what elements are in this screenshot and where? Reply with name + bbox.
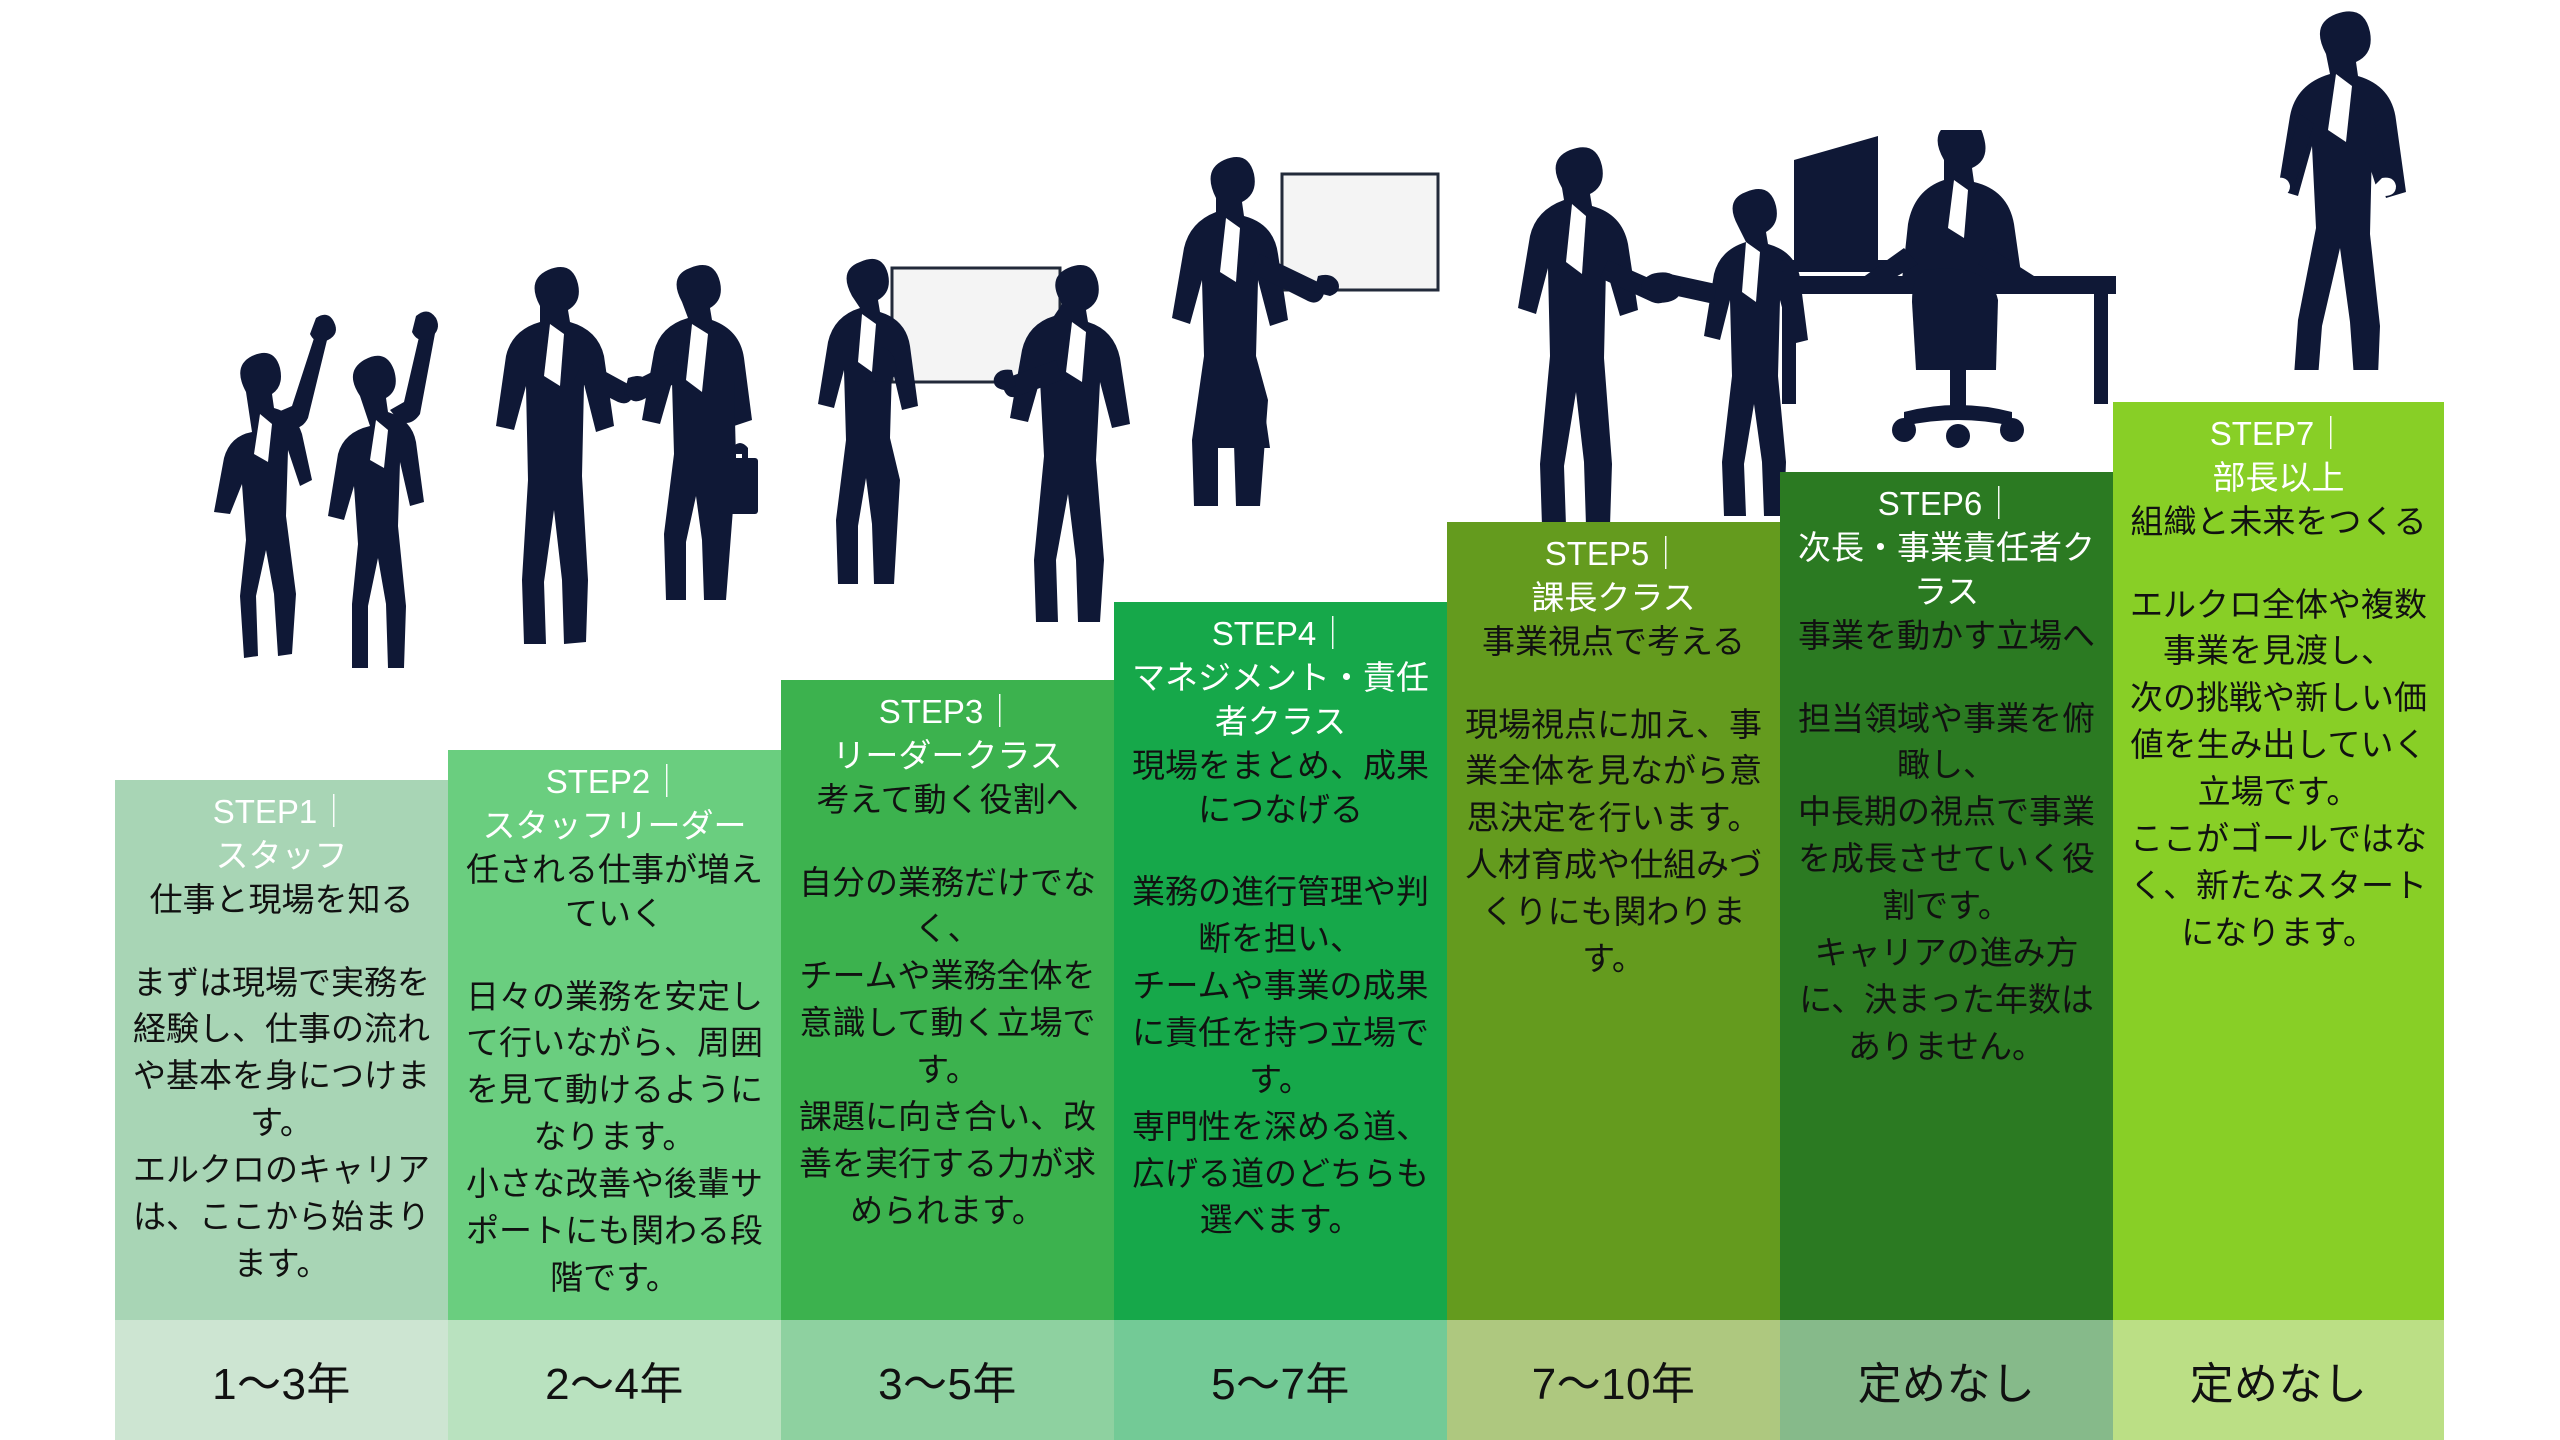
step-4-title: STEP4｜マネジメント・責任者クラス [1120, 612, 1441, 744]
step-2-years-label: 2〜4年 [545, 1348, 684, 1412]
step-6-years-label: 定めなし [1858, 1348, 2036, 1412]
step-5-title: STEP5｜課長クラス [1453, 532, 1774, 620]
step-1-tagline: 仕事と現場を知る [121, 878, 442, 922]
step-3-years-label: 3〜5年 [878, 1348, 1017, 1412]
step-2-title: STEP2｜スタッフリーダー [454, 760, 775, 848]
presenter-whiteboard-illustration [1150, 150, 1450, 580]
step-4-years-label: 5〜7年 [1211, 1348, 1350, 1412]
career-step-diagram: STEP1｜スタッフ 仕事と現場を知る まずは現場で実務を経験し、仕事の流れや基… [0, 0, 2560, 1440]
step-6-tagline: 事業を動かす立場へ [1786, 614, 2107, 658]
step-3-years-cell: 3〜5年 [781, 1320, 1114, 1440]
step-1-body: まずは現場で実務を経験し、仕事の流れや基本を身につけます。 エルクロのキャリアは… [121, 960, 442, 1288]
step-column-4: STEP4｜マネジメント・責任者クラス 現場をまとめ、成果につなげる 業務の進行… [1114, 602, 1447, 1320]
step-4-body: 業務の進行管理や判断を担い、 チームや事業の成果に責任を持つ立場です。 専門性を… [1120, 869, 1441, 1244]
step-7-years-label: 定めなし [2190, 1348, 2368, 1412]
step-6-years-cell: 定めなし [1780, 1320, 2113, 1440]
step-1-years-cell: 1〜3年 [115, 1320, 448, 1440]
step-7-title: STEP7｜部長以上 [2119, 412, 2438, 500]
step-column-6: STEP6｜次長・事業責任者クラス 事業を動かす立場へ 担当領域や事業を俯瞰し、… [1780, 472, 2113, 1320]
step-1-title: STEP1｜スタッフ [121, 790, 442, 878]
step-5-body: 現場視点に加え、事業全体を見ながら意思決定を行います。 人材育成や仕組みづくりに… [1453, 702, 1774, 983]
step-column-5: STEP5｜課長クラス 事業視点で考える 現場視点に加え、事業全体を見ながら意思… [1447, 522, 1780, 1320]
step-2-years-cell: 2〜4年 [448, 1320, 781, 1440]
step-3-title: STEP3｜リーダークラス [787, 690, 1108, 778]
step-column-1: STEP1｜スタッフ 仕事と現場を知る まずは現場で実務を経験し、仕事の流れや基… [115, 780, 448, 1320]
walking-leader-illustration [2230, 10, 2440, 370]
step-5-years-cell: 7〜10年 [1447, 1320, 1780, 1440]
step-7-years-cell: 定めなし [2113, 1320, 2444, 1440]
step-2-tagline: 任される仕事が増えていく [454, 848, 775, 936]
two-people-whiteboard-illustration [800, 252, 1130, 652]
two-people-handshake-illustration [1510, 140, 1810, 540]
two-people-greeting-illustration [492, 252, 782, 672]
step-4-tagline: 現場をまとめ、成果につなげる [1120, 744, 1441, 832]
step-2-body: 日々の業務を安定して行いながら、周囲を見て動けるようになります。 小さな改善や後… [454, 974, 775, 1302]
step-7-body: エルクロ全体や複数事業を見渡し、 次の挑戦や新しい価値を生み出していく立場です。… [2119, 582, 2438, 957]
step-3-tagline: 考えて動く役割へ [787, 778, 1108, 822]
step-5-tagline: 事業視点で考える [1453, 620, 1774, 664]
step-column-7: STEP7｜部長以上 組織と未来をつくる エルクロ全体や複数事業を見渡し、 次の… [2113, 402, 2444, 1320]
step-3-body: 自分の業務だけでなく、 チームや業務全体を意識して動く立場です。 課題に向き合い… [787, 860, 1108, 1235]
step-7-tagline: 組織と未来をつくる [2119, 500, 2438, 544]
step-column-3: STEP3｜リーダークラス 考えて動く役割へ 自分の業務だけでなく、 チームや業… [781, 680, 1114, 1320]
step-column-2: STEP2｜スタッフリーダー 任される仕事が増えていく 日々の業務を安定して行い… [448, 750, 781, 1320]
step-4-years-cell: 5〜7年 [1114, 1320, 1447, 1440]
step-6-title: STEP6｜次長・事業責任者クラス [1786, 482, 2107, 614]
two-people-cheering-illustration [160, 300, 460, 700]
executive-at-desk-illustration [1776, 130, 2116, 460]
step-5-years-label: 7〜10年 [1532, 1348, 1696, 1412]
step-6-body: 担当領域や事業を俯瞰し、 中長期の視点で事業を成長させていく役割です。 キャリア… [1786, 696, 2107, 1071]
step-1-years-label: 1〜3年 [212, 1348, 351, 1412]
